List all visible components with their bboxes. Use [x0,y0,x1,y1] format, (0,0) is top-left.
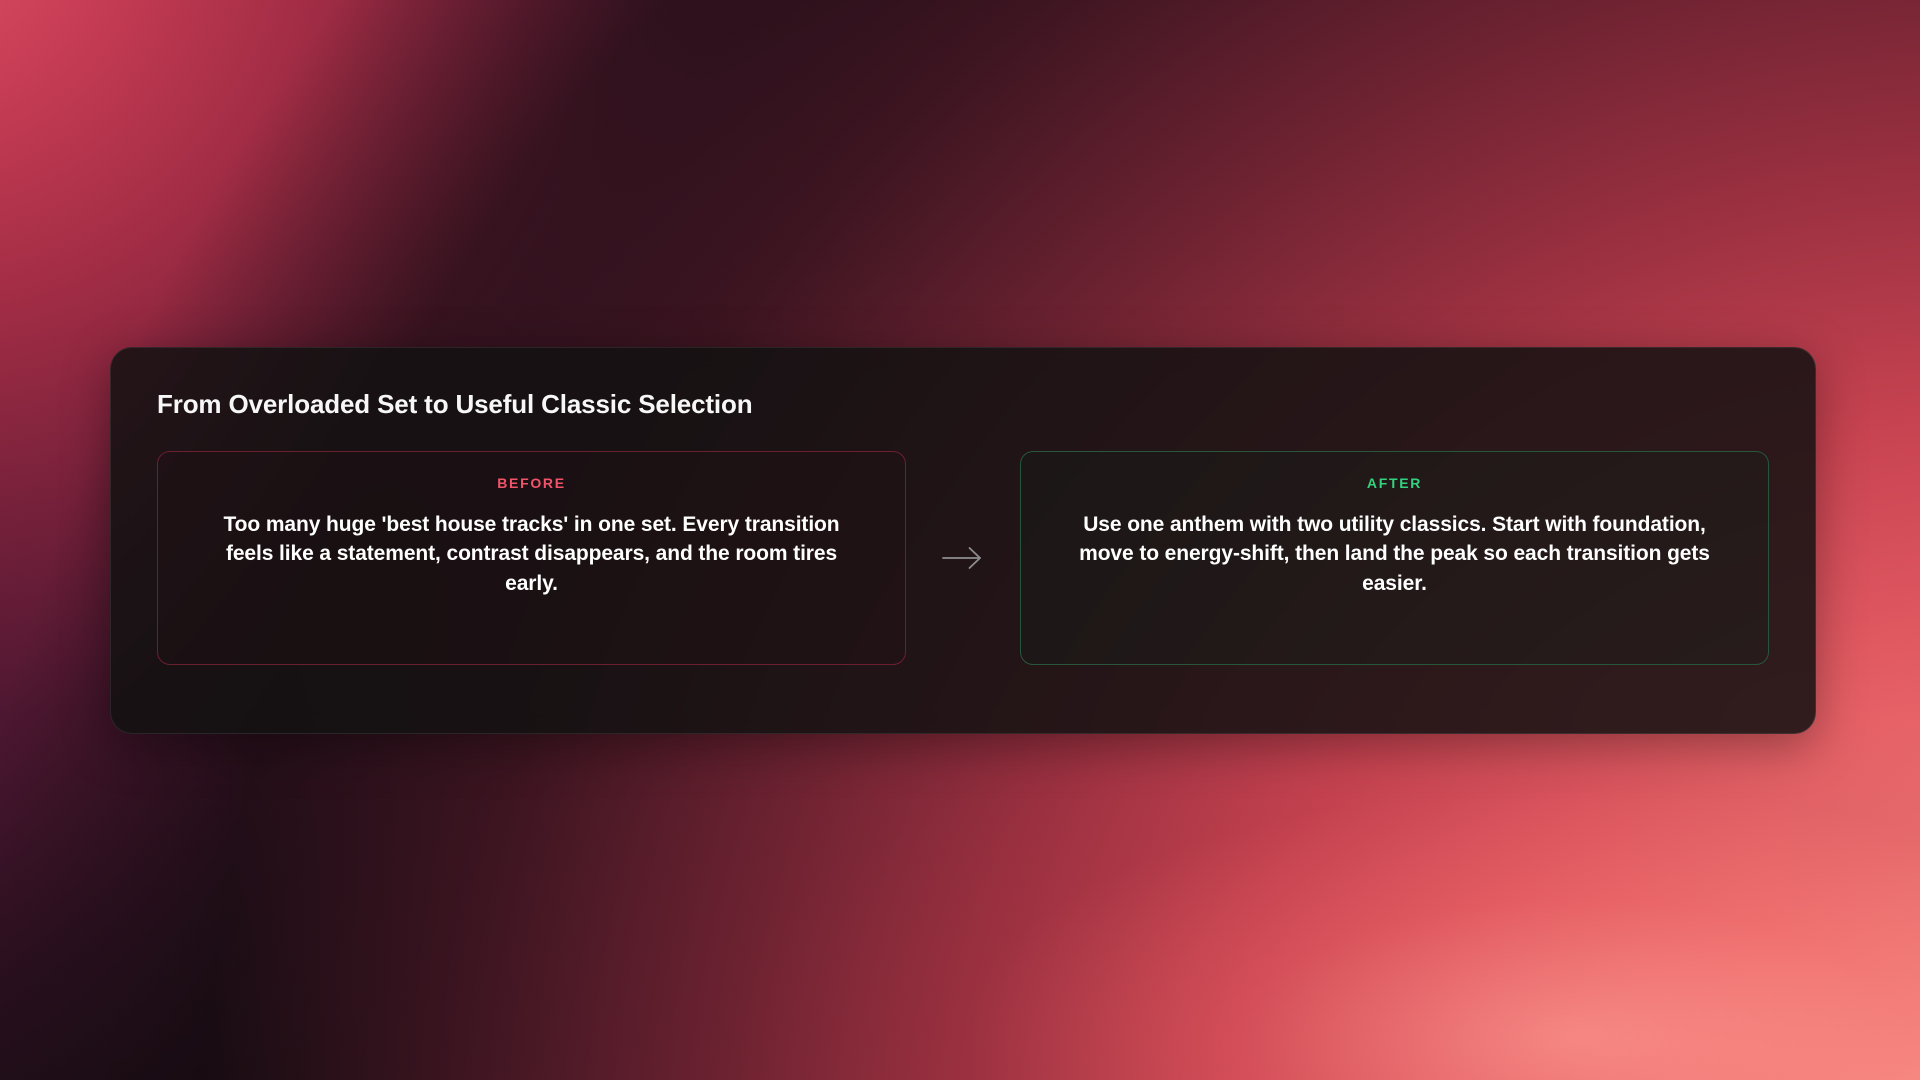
comparison-row: BEFORE Too many huge 'best house tracks'… [157,451,1769,665]
before-card: BEFORE Too many huge 'best house tracks'… [157,451,906,665]
before-text: Too many huge 'best house tracks' in one… [212,510,852,599]
comparison-panel: From Overloaded Set to Useful Classic Se… [110,347,1816,734]
arrow-cell [906,451,1020,665]
after-card: AFTER Use one anthem with two utility cl… [1020,451,1769,665]
before-label: BEFORE [497,476,566,490]
page-title: From Overloaded Set to Useful Classic Se… [157,388,1769,421]
after-text: Use one anthem with two utility classics… [1075,510,1715,599]
arrow-right-icon [942,545,984,571]
after-label: AFTER [1367,476,1422,490]
